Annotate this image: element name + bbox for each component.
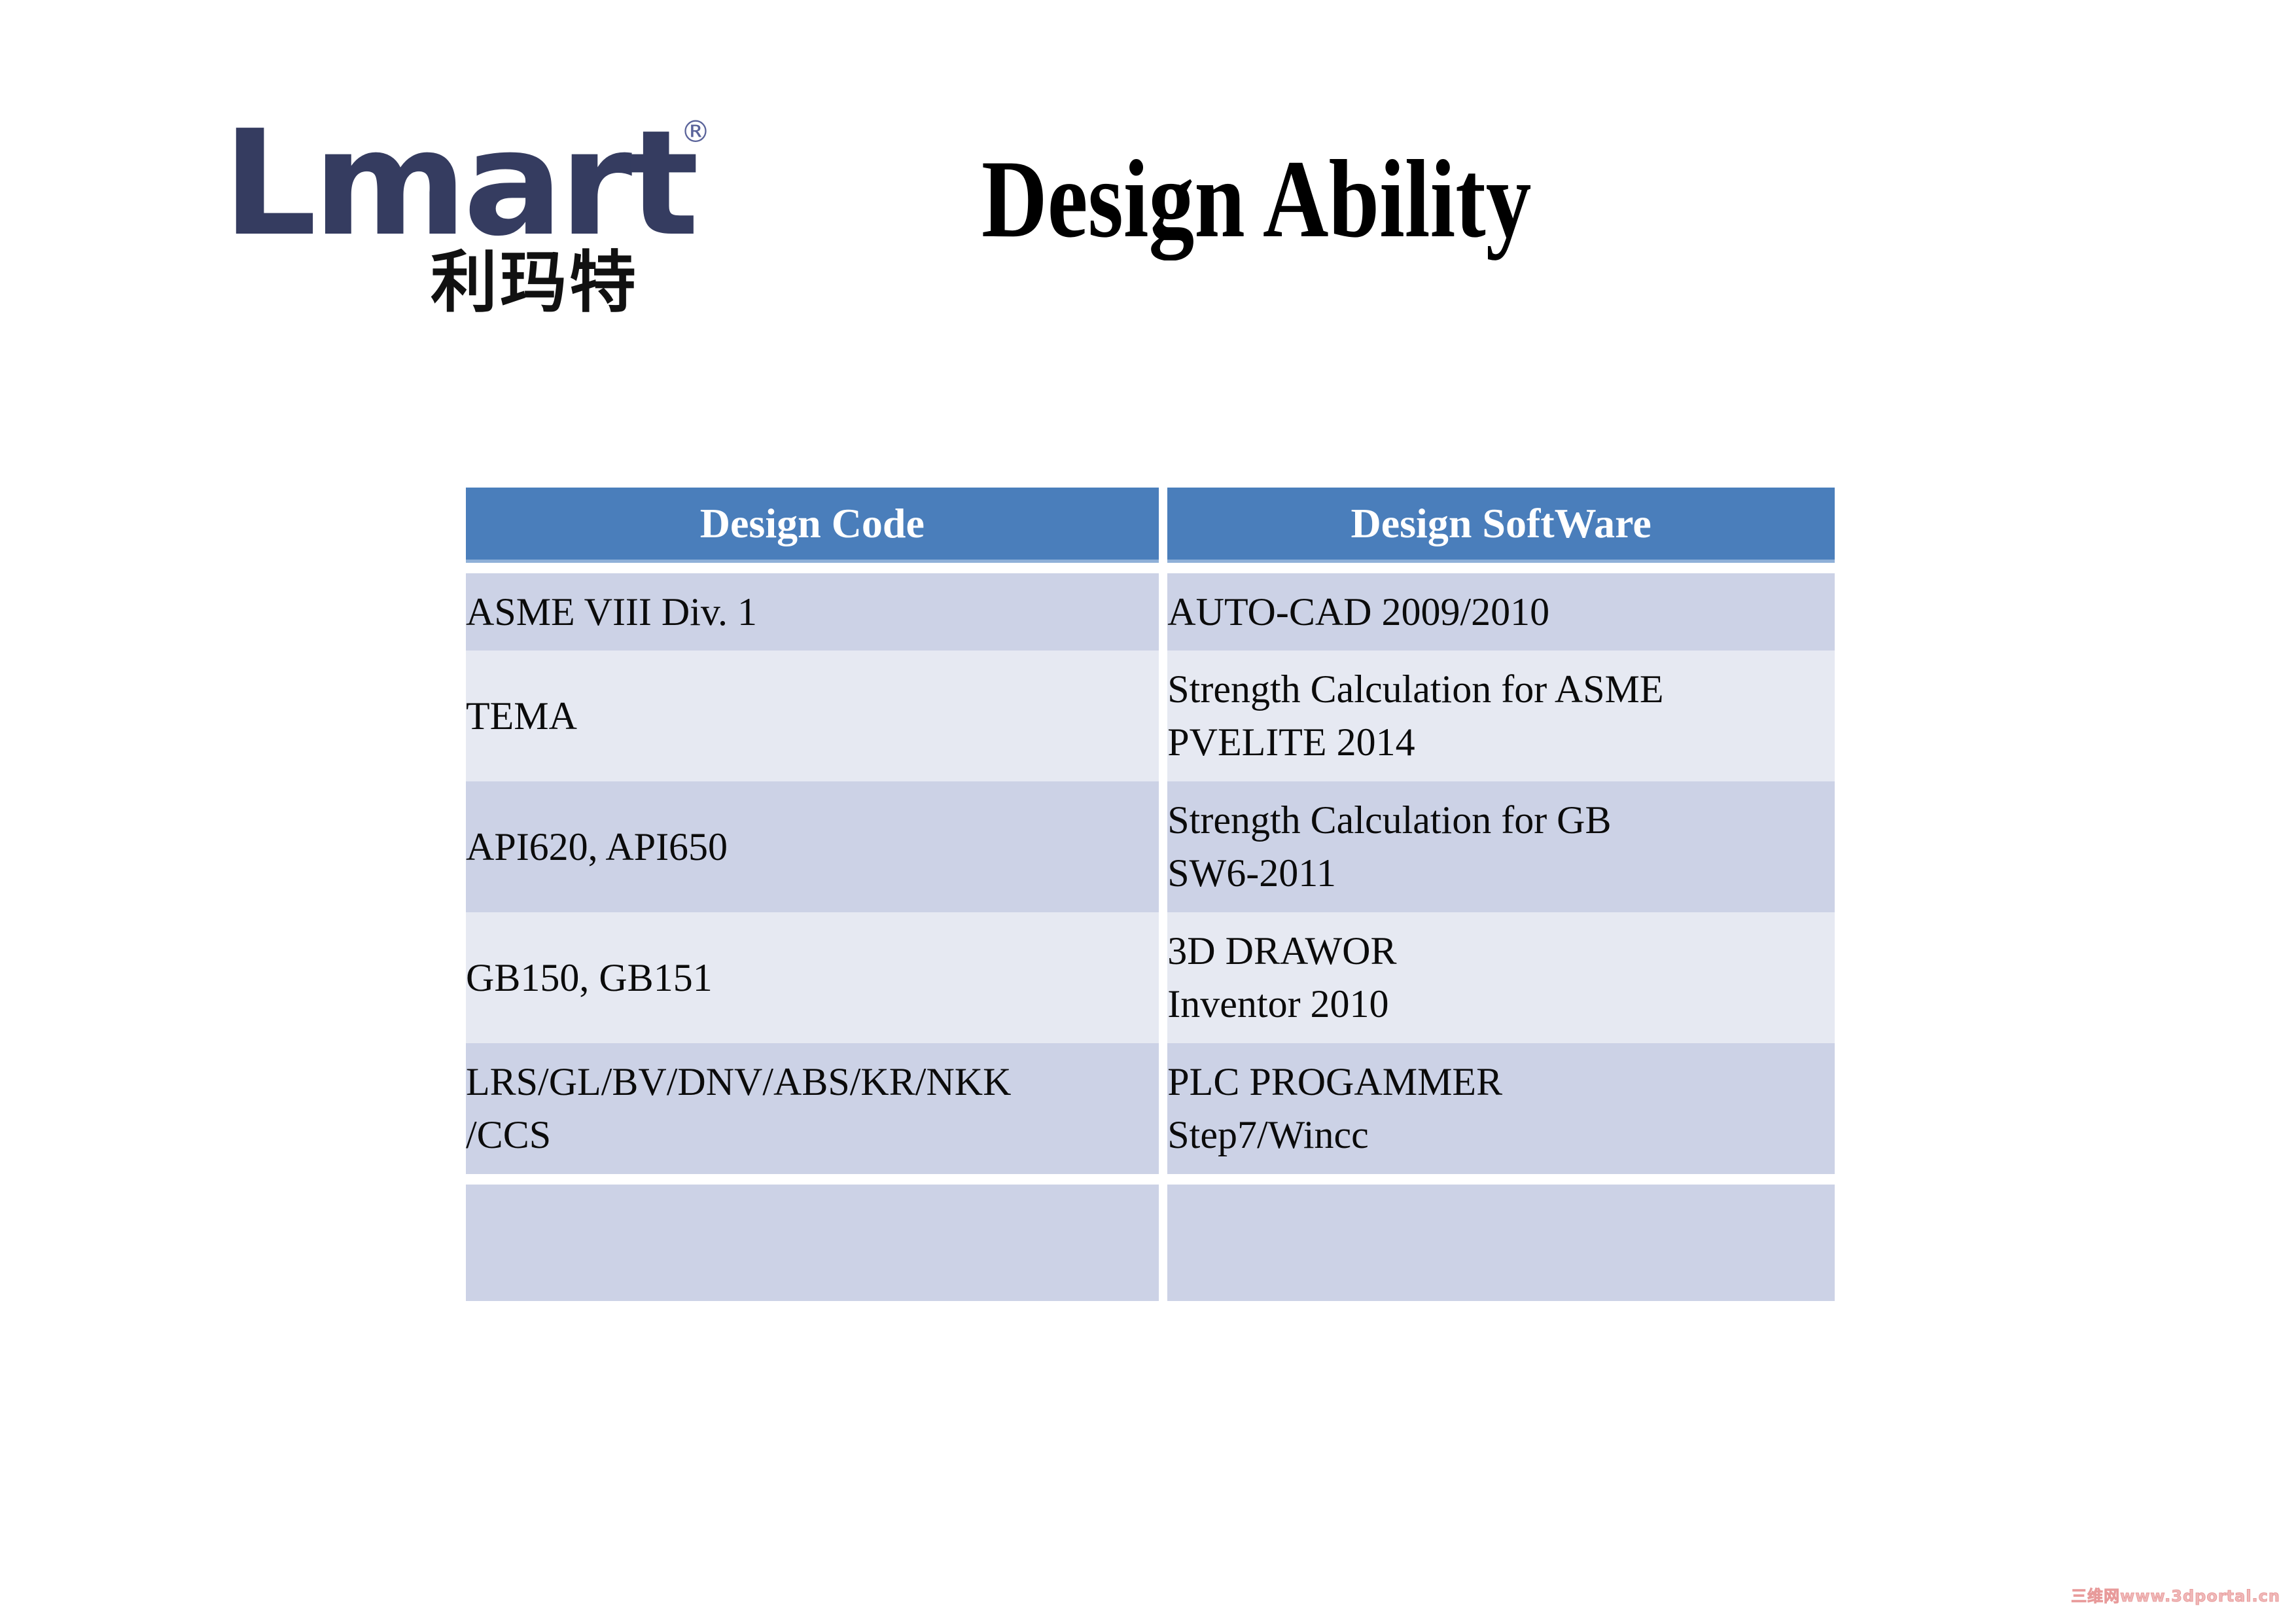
cell-design-software: PLC PROGAMMER Step7/Wincc (1167, 1043, 1835, 1174)
header-body-gap-cell (466, 563, 1835, 573)
cell-design-code: TEMA (466, 651, 1159, 781)
cell-line: LRS/GL/BV/DNV/ABS/KR/NKK (466, 1056, 1159, 1109)
cell-design-software (1167, 1185, 1835, 1301)
column-gap (1159, 1043, 1168, 1174)
column-header-design-code: Design Code (466, 488, 1159, 563)
cell-design-code: LRS/GL/BV/DNV/ABS/KR/NKK /CCS (466, 1043, 1159, 1174)
column-gap (1159, 1185, 1168, 1301)
column-gap (1159, 912, 1168, 1043)
table-row (466, 1185, 1835, 1301)
cell-line: API620, API650 (466, 821, 1159, 874)
logo-chinese-name: 利玛特 (431, 250, 639, 317)
cell-line: Strength Calculation for ASME (1167, 663, 1835, 716)
row-gap-cell (466, 1174, 1835, 1185)
logo-wordmark: Lmart (222, 111, 730, 257)
column-gap (1159, 651, 1168, 781)
cell-line: Step7/Wincc (1167, 1109, 1835, 1162)
cell-design-code: GB150, GB151 (466, 912, 1159, 1043)
column-header-design-software: Design SoftWare (1167, 488, 1835, 563)
table-row: TEMA Strength Calculation for ASME PVELI… (466, 651, 1835, 781)
cell-design-software: AUTO-CAD 2009/2010 (1167, 573, 1835, 651)
table-row: API620, API650 Strength Calculation for … (466, 781, 1835, 912)
cell-line: GB150, GB151 (466, 952, 1159, 1005)
registered-trademark-icon: ® (680, 116, 711, 147)
table-row: LRS/GL/BV/DNV/ABS/KR/NKK /CCS PLC PROGAM… (466, 1043, 1835, 1174)
column-gap (1159, 573, 1168, 651)
table-row: GB150, GB151 3D DRAWOR Inventor 2010 (466, 912, 1835, 1043)
table-row: ASME VIII Div. 1 AUTO-CAD 2009/2010 (466, 573, 1835, 651)
cell-design-software: 3D DRAWOR Inventor 2010 (1167, 912, 1835, 1043)
cell-line: 3D DRAWOR (1167, 925, 1835, 978)
cell-design-code (466, 1185, 1159, 1301)
design-ability-table: Design Code Design SoftWare ASME VIII Di… (466, 488, 1835, 1301)
cell-line: AUTO-CAD 2009/2010 (1167, 586, 1835, 639)
page-title: Design Ability (981, 141, 1679, 258)
cell-line: TEMA (466, 690, 1159, 743)
header-body-gap (466, 563, 1835, 573)
cell-line: ASME VIII Div. 1 (466, 586, 1159, 639)
cell-design-software: Strength Calculation for GB SW6-2011 (1167, 781, 1835, 912)
cell-design-software: Strength Calculation for ASME PVELITE 20… (1167, 651, 1835, 781)
cell-line: Inventor 2010 (1167, 978, 1835, 1031)
header-column-gap (1159, 488, 1168, 563)
cell-line: /CCS (466, 1109, 1159, 1162)
cell-line: PLC PROGAMMER (1167, 1056, 1835, 1109)
site-watermark: 三维网www.3dportal.cn (2071, 1583, 2280, 1606)
row-gap (466, 1174, 1835, 1185)
company-logo: Lmart ® 利玛特 (222, 111, 720, 334)
cell-line: PVELITE 2014 (1167, 716, 1835, 769)
table-header-row: Design Code Design SoftWare (466, 488, 1835, 563)
cell-line: SW6-2011 (1167, 847, 1835, 900)
column-gap (1159, 781, 1168, 912)
cell-design-code: API620, API650 (466, 781, 1159, 912)
cell-design-code: ASME VIII Div. 1 (466, 573, 1159, 651)
cell-line: Strength Calculation for GB (1167, 794, 1835, 847)
